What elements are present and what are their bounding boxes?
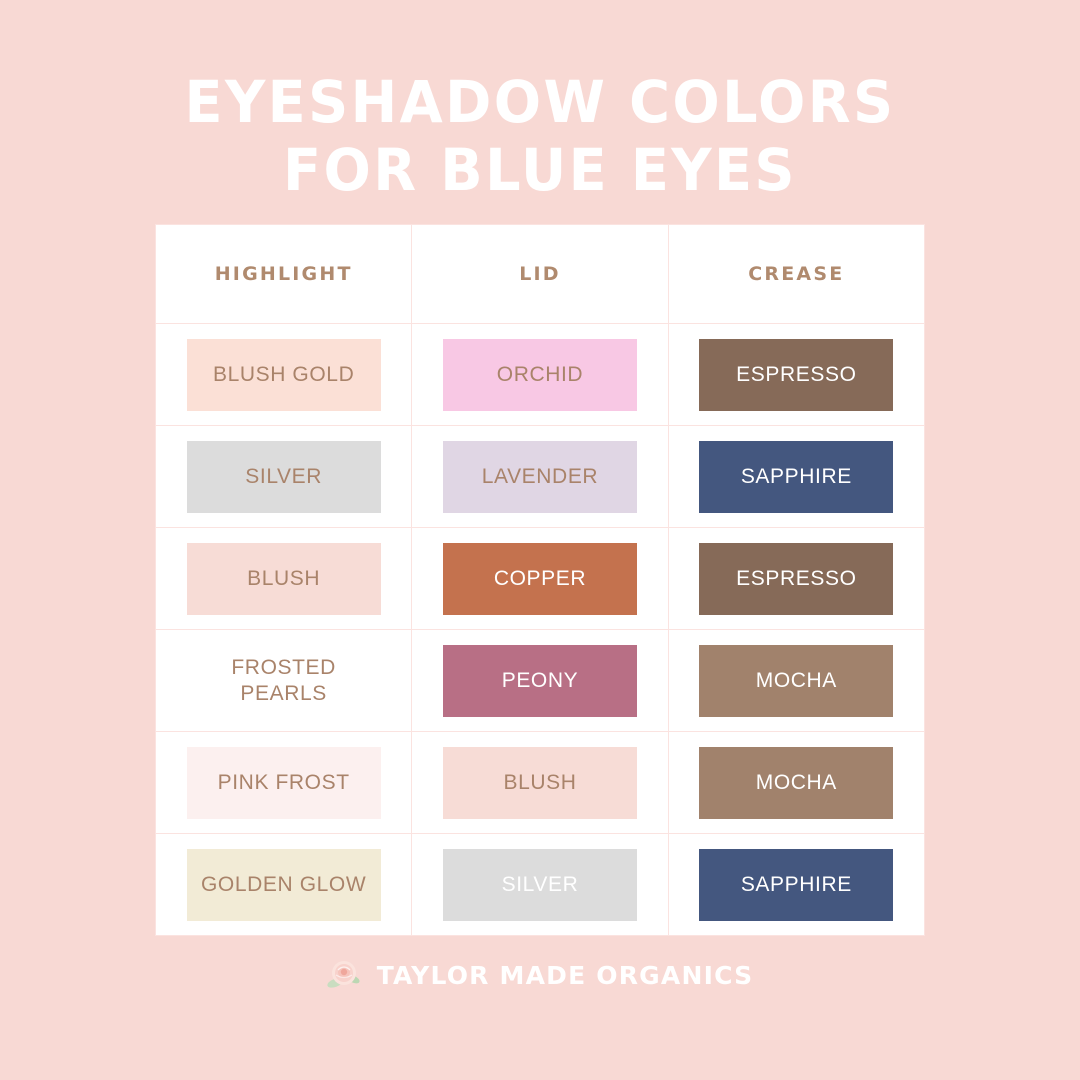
cell-inner: COPPER [412,528,667,629]
color-swatch-lid: BLUSH [443,747,637,819]
brand-name: TAYLOR MADE ORGANICS [377,961,754,990]
column-header-crease: CREASE [668,225,924,324]
color-swatch-crease: MOCHA [699,645,893,717]
table-row: BLUSH GOLDORCHIDESPRESSO [156,324,925,426]
color-swatch-highlight: PINK FROST [187,747,381,819]
cell-highlight: SILVER [156,426,412,528]
table-header-row: HIGHLIGHT LID CREASE [156,225,925,324]
cell-inner: BLUSH GOLD [156,324,411,425]
cell-inner: LAVENDER [412,426,667,527]
color-chart-table: HIGHLIGHT LID CREASE BLUSH GOLDORCHIDESP… [155,224,925,936]
cell-crease: SAPPHIRE [668,426,924,528]
table-row: BLUSHCOPPERESPRESSO [156,528,925,630]
cell-inner: PEONY [412,630,667,731]
cell-highlight: GOLDEN GLOW [156,834,412,936]
cell-highlight: BLUSH GOLD [156,324,412,426]
eyeshadow-color-chart-page: EYESHADOW COLORS FOR BLUE EYES HIGHLIGHT… [0,0,1080,1080]
cell-inner: BLUSH [412,732,667,833]
color-swatch-crease: SAPPHIRE [699,849,893,921]
cell-highlight: PINK FROST [156,732,412,834]
table-row: PINK FROSTBLUSHMOCHA [156,732,925,834]
cell-lid: SILVER [412,834,668,936]
table-row: SILVERLAVENDERSAPPHIRE [156,426,925,528]
cell-inner: SILVER [156,426,411,527]
cell-crease: ESPRESSO [668,528,924,630]
cell-inner: MOCHA [669,732,924,833]
table-body: BLUSH GOLDORCHIDESPRESSOSILVERLAVENDERSA… [156,324,925,936]
cell-lid: ORCHID [412,324,668,426]
color-swatch-crease: SAPPHIRE [699,441,893,513]
color-swatch-highlight: GOLDEN GLOW [187,849,381,921]
cell-inner: SAPPHIRE [669,834,924,935]
color-swatch-highlight: BLUSH GOLD [187,339,381,411]
page-title-line-1: EYESHADOW COLORS [22,68,1059,136]
cell-crease: ESPRESSO [668,324,924,426]
color-swatch-crease: MOCHA [699,747,893,819]
color-swatch-highlight: SILVER [187,441,381,513]
cell-inner: SAPPHIRE [669,426,924,527]
column-header-highlight: HIGHLIGHT [156,225,412,324]
color-swatch-lid: COPPER [443,543,637,615]
cell-crease: SAPPHIRE [668,834,924,936]
cell-lid: PEONY [412,630,668,732]
cell-inner: SILVER [412,834,667,935]
brand-footer: TAYLOR MADE ORGANICS [327,958,754,992]
color-swatch-highlight: BLUSH [187,543,381,615]
color-swatch-lid: LAVENDER [443,441,637,513]
cell-inner: ESPRESSO [669,324,924,425]
cell-inner: ORCHID [412,324,667,425]
cell-highlight: FROSTED PEARLS [156,630,412,732]
cell-crease: MOCHA [668,630,924,732]
cell-inner: PINK FROST [156,732,411,833]
cell-inner: GOLDEN GLOW [156,834,411,935]
page-title: EYESHADOW COLORS FOR BLUE EYES [0,68,1080,204]
color-swatch-crease: ESPRESSO [699,543,893,615]
cell-inner: ESPRESSO [669,528,924,629]
page-title-line-2: FOR BLUE EYES [22,136,1059,204]
color-swatch-crease: ESPRESSO [699,339,893,411]
cell-highlight: BLUSH [156,528,412,630]
cell-crease: MOCHA [668,732,924,834]
color-swatch-lid: PEONY [443,645,637,717]
cell-inner: MOCHA [669,630,924,731]
rose-icon [327,958,361,992]
cell-lid: COPPER [412,528,668,630]
cell-lid: LAVENDER [412,426,668,528]
column-header-lid: LID [412,225,668,324]
cell-lid: BLUSH [412,732,668,834]
color-swatch-lid: ORCHID [443,339,637,411]
cell-inner: BLUSH [156,528,411,629]
table-row: GOLDEN GLOWSILVERSAPPHIRE [156,834,925,936]
color-swatch-highlight: FROSTED PEARLS [187,638,381,724]
table-row: FROSTED PEARLSPEONYMOCHA [156,630,925,732]
color-swatch-lid: SILVER [443,849,637,921]
cell-inner: FROSTED PEARLS [156,630,411,731]
